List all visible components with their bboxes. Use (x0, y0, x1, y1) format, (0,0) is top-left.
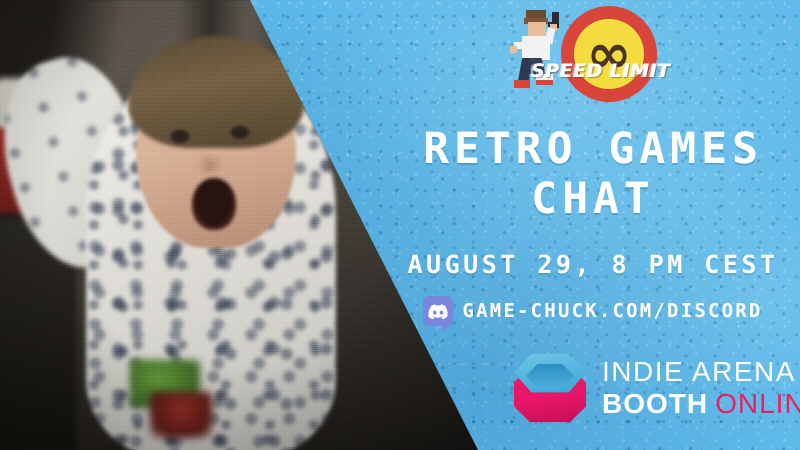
speed-limit-logo[interactable]: ∞ SPEED LIMIT (506, 2, 688, 106)
event-announcement-banner: ∞ SPEED LIMIT RETRO GAMES CHAT AUGUST 29… (0, 0, 800, 450)
indie-arena-booth-online-logo[interactable]: INDIE ARENA BOOTHONLINE (512, 352, 800, 424)
pixel-runner-icon (506, 6, 564, 98)
headline-block: RETRO GAMES CHAT (386, 128, 800, 222)
runner-hand-forward (510, 46, 517, 53)
headline-line-2: CHAT (386, 177, 800, 222)
discord-icon (423, 296, 453, 326)
discord-link-row[interactable]: GAME-CHUCK.COM/DISCORD (386, 296, 800, 326)
indie-arena-booth-wordmark: INDIE ARENA BOOTHONLINE (602, 358, 800, 418)
runner-face (528, 22, 546, 36)
headline-line-1: RETRO GAMES (386, 128, 800, 171)
runner-torso (522, 36, 550, 60)
discord-url-text[interactable]: GAME-CHUCK.COM/DISCORD (462, 300, 762, 322)
booth-hexagon-icon (512, 352, 588, 424)
indie-arena-text: INDIE ARENA (602, 358, 800, 386)
event-datetime: AUGUST 29, 8 PM CEST (386, 250, 800, 279)
booth-text: BOOTH (602, 388, 708, 419)
booth-online-line: BOOTHONLINE (602, 390, 800, 418)
online-text: ONLINE (715, 388, 800, 419)
speed-limit-wordmark: SPEED LIMIT (514, 60, 688, 82)
infinity-icon: ∞ (561, 6, 657, 102)
